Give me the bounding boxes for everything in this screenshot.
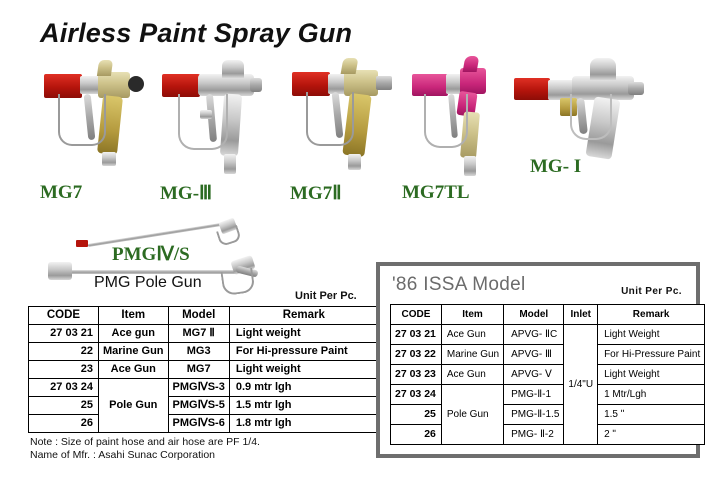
- table-row: 27 03 22 Marine Gun APVG- Ⅲ For Hi-Press…: [391, 345, 705, 365]
- issa-model-panel: '86 ISSA Model Unit Per Pc. CODE Item Mo…: [376, 262, 700, 458]
- cell-remark: Light weight: [229, 325, 378, 343]
- table-row: 25 PMG-Ⅱ-1.5 1.5 ʺ: [391, 405, 705, 425]
- gun-inlet-fitting: [224, 154, 236, 174]
- cell-item: Marine Gun: [441, 345, 503, 365]
- cell-code: 25: [29, 397, 99, 415]
- trigger-guard: [306, 92, 354, 146]
- footer-notes: Note : Size of paint hose and air hose a…: [30, 436, 260, 462]
- cell-inlet: 1/4"U: [564, 325, 598, 445]
- table-row: 25 PMGⅣS-5 1.5 mtr lgh: [29, 397, 379, 415]
- header-code: CODE: [391, 305, 442, 325]
- note-line-2: Name of Mfr. : Asahi Sunac Corporation: [30, 449, 260, 462]
- table-header-row: CODE Item Model Inlet Remark: [391, 305, 705, 325]
- cell-model: PMG-Ⅱ-1: [504, 385, 564, 405]
- table-row: 23 Ace Gun MG7 Light weight: [29, 361, 379, 379]
- table-row: 26 PMG- Ⅱ-2 2 ʺ: [391, 425, 705, 445]
- gun-inlet-fitting: [464, 156, 476, 176]
- table-header-row: CODE Item Model Remark: [29, 307, 379, 325]
- cell-item: Pole Gun: [99, 379, 169, 433]
- gun-nozzle: [376, 76, 392, 90]
- header-item: Item: [441, 305, 503, 325]
- issa-panel-title: '86 ISSA Model: [392, 274, 526, 296]
- gun-inlet-fitting: [348, 154, 361, 170]
- table-row: 27 03 24 Pole Gun PMGⅣS-3 0.9 mtr lgh: [29, 379, 379, 397]
- left-unit-note: Unit Per Pc.: [295, 290, 357, 302]
- header-remark: Remark: [229, 307, 378, 325]
- cell-remark: 2 ʺ: [598, 425, 705, 445]
- cell-item: Ace Gun: [441, 325, 503, 345]
- left-spec-table: CODE Item Model Remark 27 03 21 Ace gun …: [28, 306, 379, 433]
- cell-model: APVG- Ⅲ: [504, 345, 564, 365]
- cell-code: 26: [29, 415, 99, 433]
- header-model: Model: [504, 305, 564, 325]
- gun-label-mg7: MG7: [40, 182, 82, 204]
- pole-gun-caption: PMG Pole Gun: [94, 274, 202, 292]
- cell-model: APVG- Ⅴ: [504, 365, 564, 385]
- cell-model: MG7 Ⅱ: [168, 325, 229, 343]
- table-row: 27 03 24 Pole Gun PMG-Ⅱ-1 1 Mtr/Lgh: [391, 385, 705, 405]
- pink-cap: [412, 74, 448, 96]
- header-remark: Remark: [598, 305, 705, 325]
- cell-code: 22: [29, 343, 99, 361]
- gun-mg1: MG- I: [512, 58, 657, 188]
- pole-gun-illustration: PMGⅣ/S PMG Pole Gun: [0, 0, 360, 90]
- red-cap: [514, 78, 550, 100]
- cell-remark: 1.8 mtr lgh: [229, 415, 378, 433]
- gun-label-mg3: MG-Ⅲ: [160, 182, 212, 205]
- cell-model: APVG- ⅡC: [504, 325, 564, 345]
- gun-label-mg7tl: MG7TL: [402, 182, 470, 204]
- cell-remark: 1 Mtr/Lgh: [598, 385, 705, 405]
- table-row: 26 PMGⅣS-6 1.8 mtr lgh: [29, 415, 379, 433]
- cell-item: Ace Gun: [441, 365, 503, 385]
- cell-remark: 1.5 mtr lgh: [229, 397, 378, 415]
- cell-model: MG3: [168, 343, 229, 361]
- cell-code: 27 03 24: [29, 379, 99, 397]
- cell-model: PMG- Ⅱ-2: [504, 425, 564, 445]
- cell-item: Marine Gun: [99, 343, 169, 361]
- gun-inlet-fitting: [102, 152, 116, 166]
- cell-model: MG7: [168, 361, 229, 379]
- cell-item: Ace gun: [99, 325, 169, 343]
- cell-remark: 0.9 mtr lgh: [229, 379, 378, 397]
- gun-hook: [463, 56, 480, 72]
- cell-code: 27 03 24: [391, 385, 442, 405]
- trigger-guard: [178, 94, 228, 150]
- trigger-guard: [424, 94, 468, 148]
- cell-model: PMGⅣS-5: [168, 397, 229, 415]
- cell-remark: Light Weight: [598, 365, 705, 385]
- cell-remark: For Hi-Pressure Paint: [598, 345, 705, 365]
- cell-code: 27 03 22: [391, 345, 442, 365]
- gun-label-mg7ii: MG7Ⅱ: [290, 182, 342, 205]
- cell-remark: 1.5 ʺ: [598, 405, 705, 425]
- catalog-page: Airless Paint Spray Gun MG7 MG-Ⅲ: [0, 0, 718, 486]
- pole-gun-label: PMGⅣ/S: [112, 243, 190, 266]
- cell-code: 26: [391, 425, 442, 445]
- issa-spec-table: CODE Item Model Inlet Remark 27 03 21 Ac…: [390, 304, 705, 445]
- gun-adjuster: [200, 110, 212, 119]
- cell-code: 27 03 21: [391, 325, 442, 345]
- gun-mg7tl: MG7TL: [406, 62, 521, 192]
- trigger-guard: [58, 94, 106, 146]
- cell-code: 23: [29, 361, 99, 379]
- gun-label-mg1: MG- I: [530, 156, 581, 178]
- cell-code: 27 03 23: [391, 365, 442, 385]
- trigger-guard: [570, 94, 612, 140]
- header-inlet: Inlet: [564, 305, 598, 325]
- table-row: 22 Marine Gun MG3 For Hi-pressure Paint: [29, 343, 379, 361]
- pole-coupling: [48, 262, 72, 280]
- cell-code: 27 03 21: [29, 325, 99, 343]
- gun-hook: [590, 58, 616, 80]
- header-model: Model: [168, 307, 229, 325]
- gun-nozzle: [628, 82, 644, 95]
- cell-model: PMGⅣS-3: [168, 379, 229, 397]
- cell-model: PMG-Ⅱ-1.5: [504, 405, 564, 425]
- cell-model: PMGⅣS-6: [168, 415, 229, 433]
- cell-remark: For Hi-pressure Paint: [229, 343, 378, 361]
- cell-item: Ace Gun: [99, 361, 169, 379]
- table-row: 27 03 21 Ace gun MG7 Ⅱ Light weight: [29, 325, 379, 343]
- cell-remark: Light Weight: [598, 325, 705, 345]
- cell-item: Pole Gun: [441, 385, 503, 445]
- header-code: CODE: [29, 307, 99, 325]
- cell-remark: Light weight: [229, 361, 378, 379]
- header-item: Item: [99, 307, 169, 325]
- table-row: 27 03 21 Ace Gun APVG- ⅡC 1/4"U Light We…: [391, 325, 705, 345]
- cell-code: 25: [391, 405, 442, 425]
- note-line-1: Note : Size of paint hose and air hose a…: [30, 436, 260, 449]
- right-unit-note: Unit Per Pc.: [621, 286, 682, 297]
- pole-guard-long: [220, 268, 255, 296]
- table-row: 27 03 23 Ace Gun APVG- Ⅴ Light Weight: [391, 365, 705, 385]
- pole-red-tip: [76, 240, 88, 247]
